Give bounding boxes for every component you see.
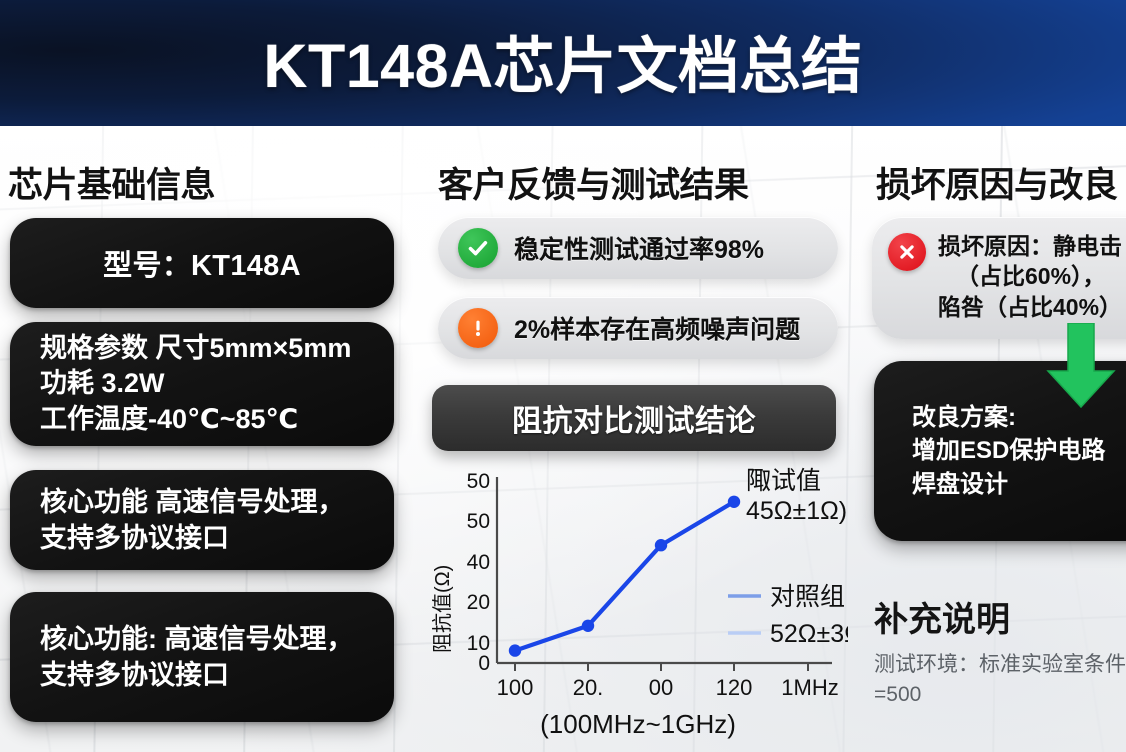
chart-data-point-0 <box>509 644 521 656</box>
extra-notes-body: 测试环境：标准实验室条件 =500 <box>874 650 1126 711</box>
card-improvement-plan-line-3: 焊盘设计 <box>912 468 1126 502</box>
chart-series-line-measured <box>515 502 734 651</box>
header-banner: KT148A芯片文档总结 <box>0 0 1126 126</box>
card-model: 型号：KT148A <box>10 218 394 308</box>
check-icon <box>458 228 498 268</box>
card-core-function-1: 核心功能 高速信号处理， 支持多协议接口 <box>10 470 394 570</box>
section-title-chip-basics: 芯片基础信息 <box>8 157 215 208</box>
pill-stability-pass: 稳定性测试通过率98% <box>438 217 838 279</box>
card-core-function-2-line-1: 核心功能: 高速信号处理， <box>40 621 394 657</box>
pill-noise-warning-label: 2%样本存在高频噪声问题 <box>514 310 800 346</box>
chart-x-tick-0: 100 <box>497 675 534 700</box>
chart-legend-label-1: 52Ω±3Ω) <box>770 620 848 648</box>
chart-data-point-1 <box>582 620 594 632</box>
chart-y-ticks: 50 50 40 20 10 0 <box>467 470 490 675</box>
card-spec-line-2: 功耗 3.2W <box>40 366 394 402</box>
chart-annotation-measured-line-2: 45Ω±1Ω) <box>746 497 847 525</box>
chart-title: 阻抗对比测试结论 <box>512 396 756 440</box>
pill-stability-pass-label: 稳定性测试通过率98% <box>514 230 764 266</box>
pill-damage-cause-line-1: 损坏原因：静电击 <box>938 231 1122 261</box>
chart-x-tickmarks <box>515 663 808 671</box>
card-core-function-1-line-2: 支持多协议接口 <box>40 520 394 556</box>
chart-data-point-2 <box>655 539 667 551</box>
impedance-chart: 阻抗值(Ω) 50 50 40 20 10 0 <box>428 457 848 747</box>
content-columns: 芯片基础信息 型号：KT148A 规格参数 尺寸5mm×5mm 功耗 3.2W … <box>0 125 1126 752</box>
chart-x-tick-3: 120 <box>716 675 753 700</box>
chart-annotation-measured: 陬试值 45Ω±1Ω) <box>746 467 847 525</box>
chart-annotation-measured-line-1: 陬试值 <box>746 467 821 495</box>
card-spec: 规格参数 尺寸5mm×5mm 功耗 3.2W 工作温度-40℃~85℃ <box>10 322 394 446</box>
chart-svg: 阻抗值(Ω) 50 50 40 20 10 0 <box>428 457 848 747</box>
extra-notes-line-1: 测试环境：标准实验室条件 <box>874 650 1126 680</box>
card-spec-line-1: 规格参数 尺寸5mm×5mm <box>40 331 394 367</box>
chart-y-tick-3: 20 <box>467 591 490 614</box>
chart-legend: 对照组 52Ω±3Ω) <box>728 583 848 648</box>
page-title: KT148A芯片文档总结 <box>0 16 1126 105</box>
section-title-damage-improvement: 损坏原因与改良 <box>876 157 1118 208</box>
close-x-icon <box>888 233 926 271</box>
pill-damage-cause-line-3: 陷咎（占比40%） <box>938 292 1122 322</box>
pill-damage-cause-text: 损坏原因：静电击 （占比60%）， 陷咎（占比40%） <box>938 231 1122 322</box>
exclamation-icon <box>458 308 498 348</box>
card-improvement-plan-line-2: 增加ESD保护电路 <box>912 434 1126 468</box>
slide-root: KT148A芯片文档总结 芯片基础信息 型号：KT148A 规格参数 尺寸5mm… <box>0 0 1126 752</box>
section-title-extra-notes: 补充说明 <box>874 592 1010 641</box>
chart-y-axis-label: 阻抗值(Ω) <box>431 565 454 653</box>
arrow-down-icon <box>1046 323 1116 409</box>
extra-notes-line-2: =500 <box>874 680 1126 710</box>
chart-x-tick-2: 00 <box>649 675 673 700</box>
chart-x-tick-1: 20. <box>573 675 604 700</box>
pill-damage-cause: 损坏原因：静电击 （占比60%）， 陷咎（占比40%） <box>872 217 1126 339</box>
chart-title-bar: 阻抗对比测试结论 <box>432 385 836 451</box>
card-model-line-1: 型号：KT148A <box>103 242 301 284</box>
card-core-function-2-line-2: 支持多协议接口 <box>40 657 394 693</box>
card-spec-line-3: 工作温度-40℃~85℃ <box>40 402 394 438</box>
chart-y-tick-5: 0 <box>478 652 490 675</box>
section-title-customer-feedback: 客户反馈与测试结果 <box>438 157 749 208</box>
chart-y-tick-2: 40 <box>467 551 490 574</box>
chart-data-point-3 <box>728 496 740 508</box>
chart-x-tick-4: 1MHz <box>781 675 838 700</box>
chart-x-ticks: 100 20. 00 120 1MHz <box>497 675 839 700</box>
pill-damage-cause-line-2: （占比60%）， <box>938 261 1122 291</box>
chart-legend-label-0: 对照组 <box>770 583 845 611</box>
chart-y-tick-0: 50 <box>467 470 490 493</box>
chart-x-axis-label: (100MHz~1GHz) <box>540 709 736 739</box>
pill-noise-warning: 2%样本存在高频噪声问题 <box>438 297 838 359</box>
card-core-function-1-line-1: 核心功能 高速信号处理， <box>40 484 394 520</box>
card-core-function-2: 核心功能: 高速信号处理， 支持多协议接口 <box>10 592 394 722</box>
chart-y-tick-1: 50 <box>467 510 490 533</box>
